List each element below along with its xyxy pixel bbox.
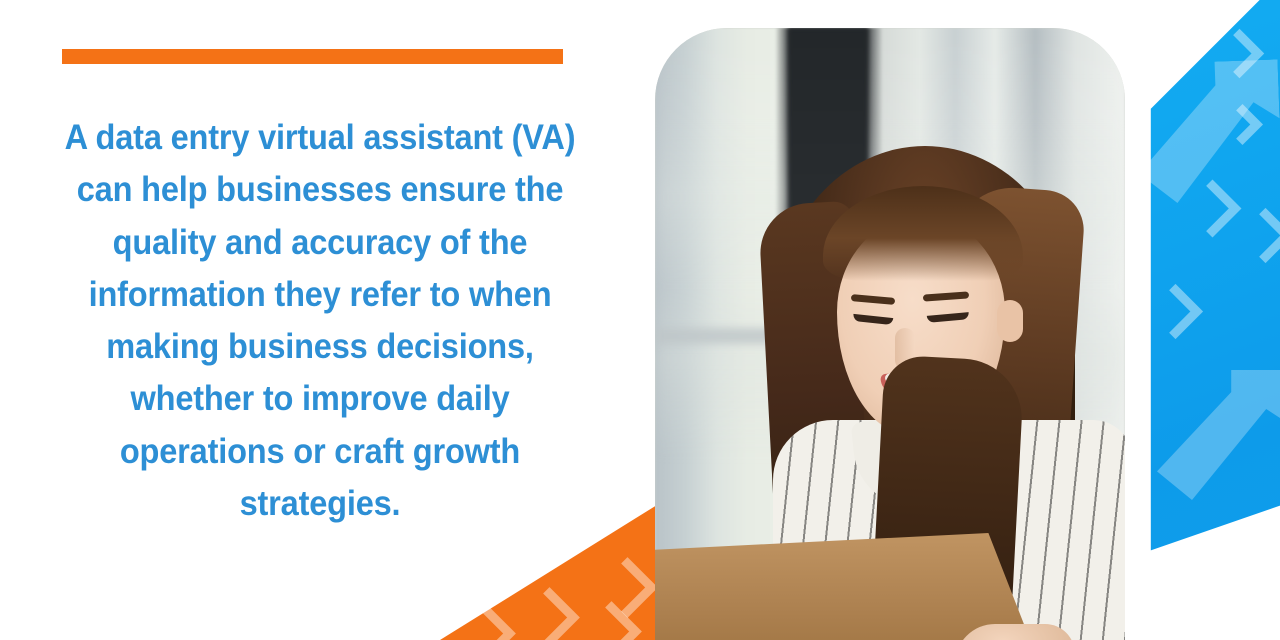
orange-rule-icon [62, 49, 563, 64]
laptop-screen [655, 533, 1043, 640]
blue-arrow-panel [1110, 0, 1280, 640]
orange-corner-wedge [440, 500, 665, 640]
headline-text: A data entry virtual assistant (VA) can … [48, 112, 591, 530]
hero-photo [655, 28, 1125, 640]
slide-canvas: A data entry virtual assistant (VA) can … [0, 0, 1280, 640]
subject-ear [997, 300, 1023, 342]
